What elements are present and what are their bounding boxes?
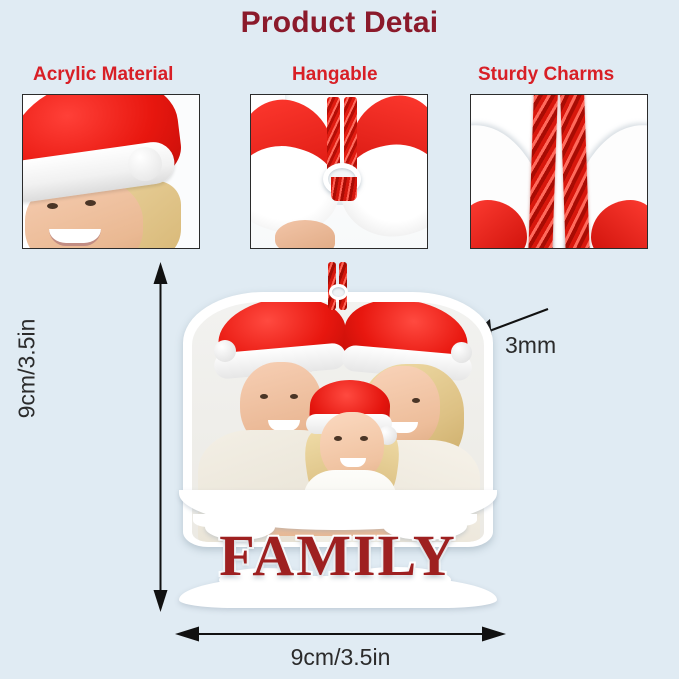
feature-photo-sturdy-charms [470,94,648,249]
width-dimension-arrow [175,625,506,643]
family-word-art-band: FAMILY [181,524,495,588]
page-title: Product Detai [0,6,679,40]
feature-label-sturdy-charms: Sturdy Charms [478,64,614,86]
height-dimension-arrow [152,262,169,612]
feature-photo-hangable [250,94,428,249]
product-main-photo: FAMILY [183,262,493,617]
width-dimension-label: 9cm/3.5in [175,644,506,671]
feature-label-hangable: Hangable [292,64,378,86]
feature-photo-acrylic-material [22,94,200,249]
thickness-callout-label: 3mm [505,332,556,359]
height-dimension-label: 9cm/3.5in [14,289,41,449]
ornament-hanging-hole [329,284,348,300]
feature-label-acrylic-material: Acrylic Material [33,64,173,86]
product-detail-image: Product Detai Acrylic Material Hangable … [0,0,679,679]
family-word-art-text: FAMILY [219,527,457,585]
